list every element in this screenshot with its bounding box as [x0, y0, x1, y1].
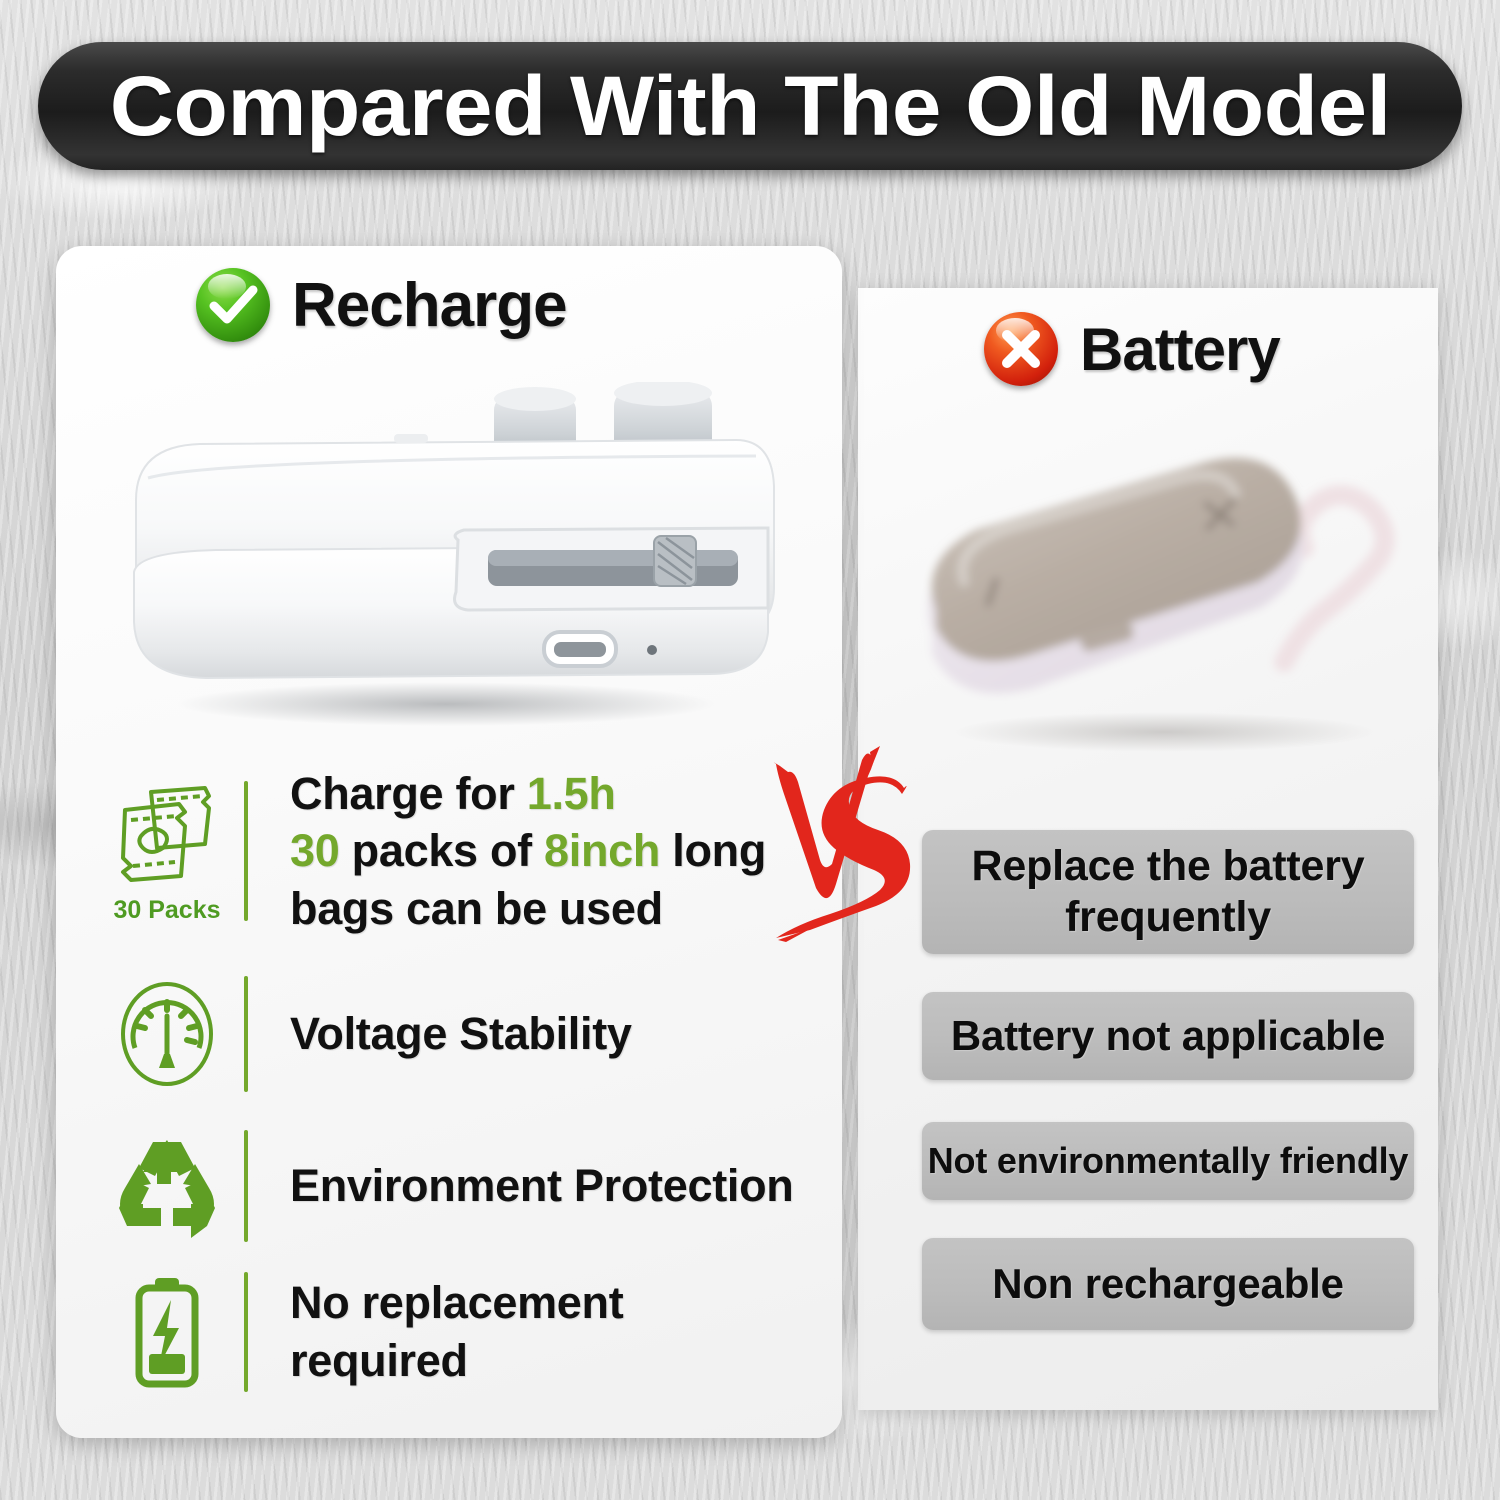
recharge-product-image — [96, 382, 796, 730]
feature-text: Charge for 1.5h 30 packs of 8inch long b… — [290, 765, 766, 938]
feature-segment: packs of — [339, 825, 544, 876]
feature-row: No replacement required — [104, 1262, 804, 1402]
con-pill: Not environmentally friendly — [922, 1122, 1414, 1200]
feature-segment: Voltage Stability — [290, 1008, 632, 1059]
feature-line: bags can be used — [290, 880, 766, 938]
feature-text: Environment Protection — [290, 1157, 793, 1215]
feature-line: Environment Protection — [290, 1157, 793, 1215]
con-pill: Replace the battery frequently — [922, 830, 1414, 954]
feature-text: Voltage Stability — [290, 1005, 632, 1063]
con-pill: Battery not applicable — [922, 992, 1414, 1080]
packs-caption: 30 Packs — [113, 896, 220, 925]
feature-segment-highlight: 1.5h — [527, 768, 616, 819]
beige-sealer-illustration — [884, 432, 1440, 762]
feature-segment: Environment Protection — [290, 1160, 793, 1211]
voltage-gauge-icon — [104, 978, 230, 1090]
feature-segment: Charge for — [290, 768, 527, 819]
green-check-circle-icon — [196, 268, 270, 342]
battery-header: Battery — [984, 312, 1280, 386]
feature-segment-highlight: 8inch — [544, 825, 660, 876]
feature-row: 30 Packs Charge for 1.5h 30 packs of 8in… — [104, 768, 804, 934]
feature-segment: bags can be used — [290, 883, 663, 934]
battery-charging-icon — [104, 1274, 230, 1390]
feature-line: 30 packs of 8inch long — [290, 822, 766, 880]
recharge-title: Recharge — [292, 270, 567, 341]
feature-segment-highlight: 30 — [290, 825, 339, 876]
battery-title: Battery — [1080, 315, 1280, 384]
battery-product-image — [884, 432, 1440, 762]
white-sealer-illustration — [96, 382, 796, 730]
feature-segment: No replacement required — [290, 1277, 623, 1386]
feature-segment: long — [660, 825, 766, 876]
red-cross-circle-icon — [984, 312, 1058, 386]
feature-divider — [244, 976, 248, 1092]
recycle-icon — [104, 1134, 230, 1238]
con-pill: Non rechargeable — [922, 1238, 1414, 1330]
feature-divider — [244, 1272, 248, 1392]
snack-bag-packs-icon: 30 Packs — [104, 778, 230, 925]
feature-line: No replacement required — [290, 1274, 804, 1389]
feature-line: Voltage Stability — [290, 1005, 632, 1063]
feature-line: Charge for 1.5h — [290, 765, 766, 823]
feature-row: Voltage Stability — [104, 968, 804, 1100]
feature-text: No replacement required — [290, 1274, 804, 1389]
feature-row: Environment Protection — [104, 1120, 804, 1252]
recharge-header: Recharge — [196, 268, 567, 342]
vs-brush-icon — [758, 742, 918, 942]
feature-divider — [244, 781, 248, 921]
page-title: Compared With The Old Model — [110, 58, 1391, 155]
feature-divider — [244, 1130, 248, 1242]
title-banner: Compared With The Old Model — [38, 42, 1462, 170]
